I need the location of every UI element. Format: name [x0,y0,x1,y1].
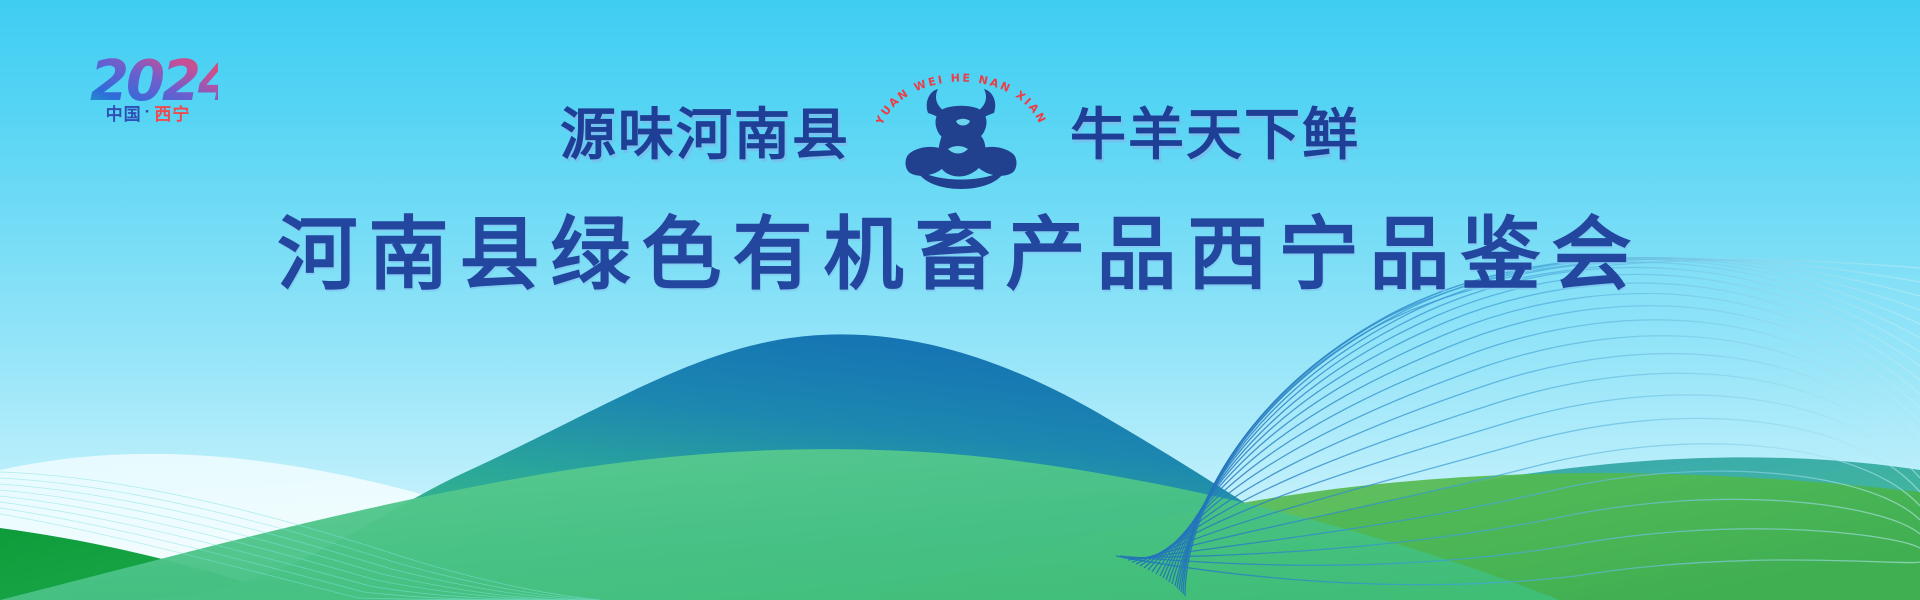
brand-lockup: 源味河南县 [0,60,1920,190]
brand-left-text: 源味河南县 [560,108,850,164]
brand-right-text: 牛羊天下鲜 [1070,108,1360,164]
event-banner: 2024 中国 · 西宁 源味河南县 [0,0,1920,600]
bull-emblem-graphic [876,61,1046,189]
page-title: 河南县绿色有机畜产品西宁品鉴会 [0,212,1920,296]
bull-emblem: YUAN WEI HE NAN XIAN [876,61,1046,189]
